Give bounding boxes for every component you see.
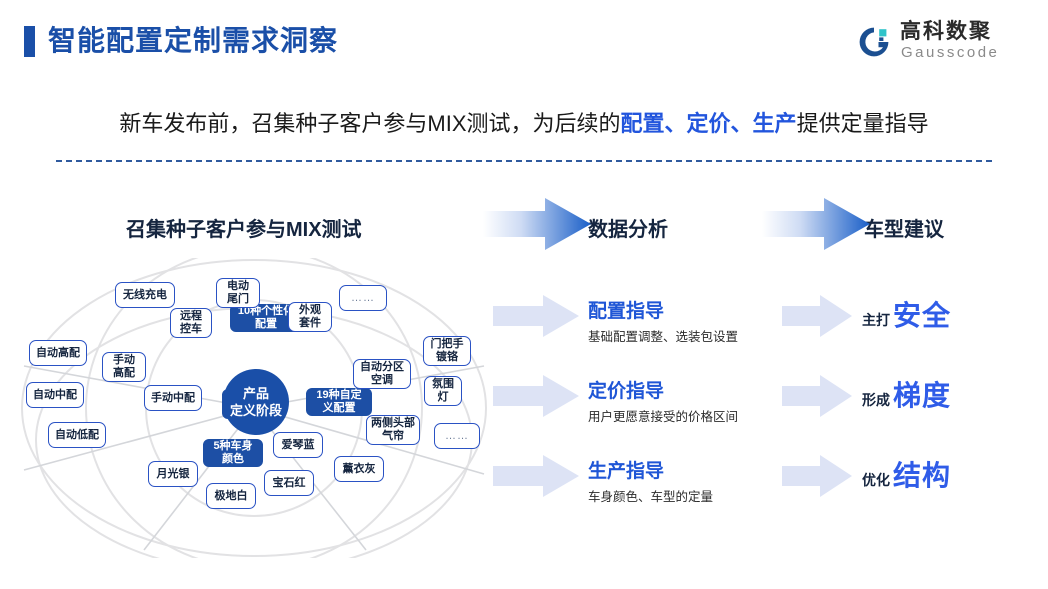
mindmap-node[interactable]: 远程 控车 <box>170 308 212 338</box>
logo-text-en: Gausscode <box>901 44 999 62</box>
analysis-row-title: 生产指导 <box>588 460 713 484</box>
mindmap-node[interactable]: 自动高配 <box>29 340 87 366</box>
mindmap-node[interactable]: 极地白 <box>206 483 256 509</box>
row-arrow-left-2 <box>493 375 579 417</box>
advice-row-keyword: 安全 <box>893 300 951 332</box>
row-arrow-left-3 <box>493 455 579 497</box>
mindmap-node[interactable]: …… <box>339 285 387 311</box>
mindmap-node[interactable]: 两侧头部 气帘 <box>366 415 420 445</box>
slide-root: 智能配置定制需求洞察 高科数聚 Gausscode 新车发布前，召集种子客户参与… <box>0 0 1048 589</box>
analysis-row-desc: 用户更愿意接受的价格区间 <box>588 408 738 426</box>
mindmap-node[interactable]: 手动 高配 <box>102 352 146 382</box>
row-arrow-left-1 <box>493 295 579 337</box>
mindmap-node[interactable]: 电动 尾门 <box>216 278 260 308</box>
row-arrow-right-2 <box>782 375 852 417</box>
brand-logo: 高科数聚 Gausscode <box>856 18 1026 66</box>
analysis-row-desc: 车身颜色、车型的定量 <box>588 488 713 506</box>
mindmap-node[interactable]: 氛围 灯 <box>424 376 462 406</box>
mindmap-node[interactable]: 自动中配 <box>26 382 84 408</box>
analysis-row-title: 配置指导 <box>588 300 738 324</box>
mindmap-node[interactable]: 无线充电 <box>115 282 175 308</box>
mindmap-node[interactable]: 外观 套件 <box>288 302 332 332</box>
page-title: 智能配置定制需求洞察 <box>48 20 338 62</box>
analysis-row: 生产指导 车身颜色、车型的定量 <box>588 460 713 506</box>
analysis-row: 定价指导 用户更愿意接受的价格区间 <box>588 380 738 426</box>
subtitle-part1: 新车发布前，召集种子客户参与MIX测试，为后续的 <box>119 111 620 136</box>
column-header-data-analysis: 数据分析 <box>588 213 668 242</box>
title-accent-bar <box>24 26 35 57</box>
analysis-row-desc: 基础配置调整、选装包设置 <box>588 328 738 346</box>
subtitle-part2: 提供定量指导 <box>797 111 929 136</box>
mindmap-node[interactable]: 月光银 <box>148 461 198 487</box>
mindmap-diagram: 10种个性化 配置 19种自定 义配置 5款 车型 5种车身 颜色 产品 定义阶… <box>14 258 494 558</box>
header-divider <box>56 160 992 162</box>
mindmap-node[interactable]: …… <box>434 423 480 449</box>
analysis-row: 配置指导 基础配置调整、选装包设置 <box>588 300 738 346</box>
logo-text-cn: 高科数聚 <box>900 20 992 44</box>
mindmap-node[interactable]: 自动低配 <box>48 422 106 448</box>
subtitle-highlight: 配置、定价、生产 <box>621 111 797 136</box>
mindmap-node[interactable]: 薰衣灰 <box>334 456 384 482</box>
advice-row: 优化 结构 <box>862 460 951 492</box>
row-arrow-right-3 <box>782 455 852 497</box>
advice-row-prefix: 形成 <box>862 390 890 410</box>
row-arrow-right-1 <box>782 295 852 337</box>
mindmap-node[interactable]: 手动中配 <box>144 385 202 411</box>
advice-row: 主打 安全 <box>862 300 951 332</box>
flow-arrow-main-1 <box>483 198 591 250</box>
advice-row-prefix: 优化 <box>862 470 890 490</box>
advice-row-prefix: 主打 <box>862 310 890 330</box>
subtitle: 新车发布前，召集种子客户参与MIX测试，为后续的配置、定价、生产提供定量指导 <box>0 108 1048 140</box>
advice-row-keyword: 梯度 <box>893 380 951 412</box>
mindmap-center-node[interactable]: 产品 定义阶段 <box>223 369 289 435</box>
flow-arrow-main-2 <box>762 198 870 250</box>
mindmap-node[interactable]: 爱琴蓝 <box>273 432 323 458</box>
mindmap-node[interactable]: 门把手 镀铬 <box>423 336 471 366</box>
advice-row-keyword: 结构 <box>893 460 951 492</box>
column-header-model-advice: 车型建议 <box>864 213 944 242</box>
column-header-mix-test: 召集种子客户参与MIX测试 <box>126 213 362 242</box>
mindmap-node[interactable]: 宝石红 <box>264 470 314 496</box>
mindmap-group-node[interactable]: 5种车身 颜色 <box>203 439 263 467</box>
advice-row: 形成 梯度 <box>862 380 951 412</box>
gausscode-logo-icon <box>856 24 892 60</box>
mindmap-group-node[interactable]: 19种自定 义配置 <box>306 388 372 416</box>
mindmap-node[interactable]: 自动分区 空调 <box>353 359 411 389</box>
analysis-row-title: 定价指导 <box>588 380 738 404</box>
